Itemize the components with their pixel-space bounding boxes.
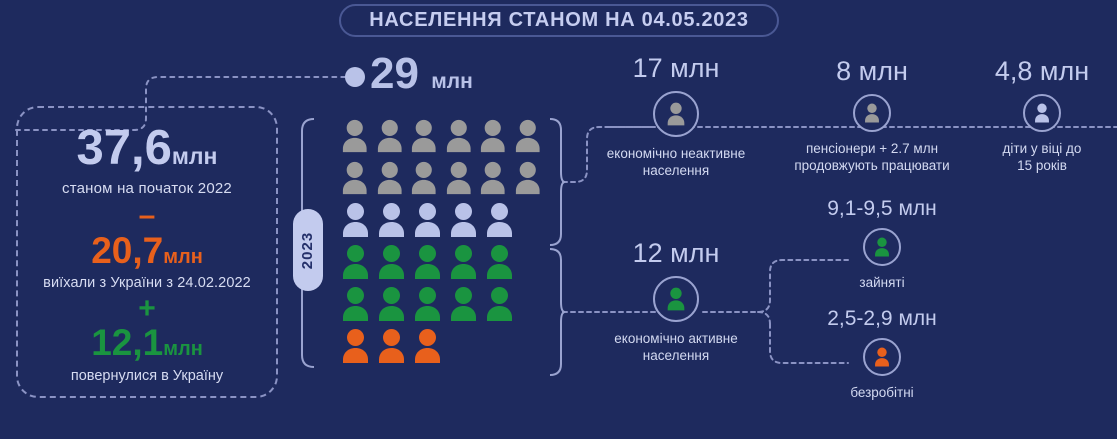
total-population-caption: станом на початок 2022 [62, 180, 232, 197]
person-icon [377, 244, 406, 280]
person-icon [341, 160, 369, 196]
people-row [341, 286, 541, 322]
inactive-population-caption: економічно неактивне населення [588, 146, 764, 180]
unemployed-value: 2,5-2,9 млн [792, 308, 972, 329]
person-icon [449, 244, 478, 280]
people-row [341, 202, 541, 238]
emigrated-value: 20,7млн [91, 232, 203, 269]
node-active-population: 12 млн економічно активне населення [588, 240, 764, 365]
year-badge-text: 2023 [300, 231, 317, 268]
person-icon [445, 118, 473, 154]
people-row [341, 244, 541, 280]
current-population-unit: млн [431, 70, 473, 93]
person-icon [449, 202, 478, 238]
node-inactive-population: 17 млн економічно неактивне населення [588, 55, 764, 180]
person-icon [376, 160, 404, 196]
inactive-group-bracket [548, 118, 566, 246]
infographic-canvas: НАСЕЛЕННЯ СТАНОМ НА 04.05.2023 37,6млн с… [0, 0, 1117, 439]
person-icon [341, 244, 370, 280]
emigrated-caption: виїхали з України з 24.02.2022 [43, 275, 251, 291]
people-icon-grid [341, 118, 541, 370]
person-icon [413, 286, 442, 322]
active-group-bracket [548, 248, 566, 376]
page-title-text: НАСЕЛЕННЯ СТАНОМ НА 04.05.2023 [369, 9, 748, 32]
employed-value: 9,1-9,5 млн [792, 198, 972, 219]
person-icon [341, 202, 370, 238]
person-icon [863, 103, 881, 123]
employed-caption: зайняті [792, 275, 972, 292]
person-icon [514, 118, 542, 154]
total-population-unit: млн [172, 143, 218, 169]
person-icon [413, 244, 442, 280]
person-icon [873, 237, 891, 257]
returned-value: 12,1млн [91, 324, 203, 361]
person-icon [485, 286, 514, 322]
current-population-dot-icon [345, 67, 365, 87]
pensioners-value: 8 млн [782, 58, 962, 85]
children-value: 4,8 млн [972, 58, 1112, 85]
current-population-value: 29 млн [370, 52, 473, 96]
total-population-number: 37,6 [77, 121, 172, 175]
people-row [341, 160, 541, 196]
person-icon [665, 102, 687, 126]
summary-panel: 37,6млн станом на початок 2022 – 20,7млн… [16, 106, 278, 398]
active-person-icon-circle [653, 276, 699, 322]
person-icon [413, 328, 442, 364]
employed-person-icon-circle [863, 228, 901, 266]
person-icon [413, 202, 442, 238]
person-icon [376, 118, 404, 154]
unemployed-person-icon-circle [863, 338, 901, 376]
emigrated-unit: млн [163, 246, 203, 268]
person-icon [514, 160, 542, 196]
minus-sign-icon: – [139, 201, 156, 231]
returned-caption: повернулися в Україну [71, 368, 223, 384]
children-person-icon-circle [1023, 94, 1061, 132]
active-population-value: 12 млн [588, 240, 764, 267]
node-children: 4,8 млн діти у віці до 15 років [972, 58, 1112, 175]
active-population-caption: економічно активне населення [588, 331, 764, 365]
person-icon [410, 160, 438, 196]
person-icon [445, 160, 473, 196]
person-icon [341, 328, 370, 364]
person-icon [377, 328, 406, 364]
person-icon [665, 287, 687, 311]
pensioners-person-icon-circle [853, 94, 891, 132]
current-population-number: 29 [370, 49, 419, 98]
person-icon [377, 286, 406, 322]
person-icon [485, 202, 514, 238]
returned-number: 12,1 [91, 322, 163, 363]
people-row [341, 118, 541, 154]
person-icon [449, 286, 478, 322]
inactive-population-value: 17 млн [588, 55, 764, 82]
people-row [341, 328, 541, 364]
year-badge: 2023 [293, 209, 323, 291]
total-population-value: 37,6млн [77, 124, 218, 173]
person-icon [485, 244, 514, 280]
node-employed: 9,1-9,5 млн зайняті [792, 198, 972, 292]
children-caption: діти у віці до 15 років [972, 141, 1112, 175]
person-icon [341, 118, 369, 154]
inactive-person-icon-circle [653, 91, 699, 137]
person-icon [479, 160, 507, 196]
page-title: НАСЕЛЕННЯ СТАНОМ НА 04.05.2023 [339, 4, 779, 37]
node-pensioners: 8 млн пенсіонери + 2.7 млн продовжують п… [782, 58, 962, 175]
returned-unit: млн [163, 338, 203, 360]
person-icon [410, 118, 438, 154]
node-unemployed: 2,5-2,9 млн безробітні [792, 308, 972, 402]
unemployed-caption: безробітні [792, 385, 972, 402]
person-icon [873, 347, 891, 367]
person-icon [479, 118, 507, 154]
plus-sign-icon: + [138, 294, 156, 324]
person-icon [1033, 103, 1051, 123]
person-icon [377, 202, 406, 238]
pensioners-caption: пенсіонери + 2.7 млн продовжують працюва… [782, 141, 962, 175]
person-icon [341, 286, 370, 322]
emigrated-number: 20,7 [91, 230, 163, 271]
